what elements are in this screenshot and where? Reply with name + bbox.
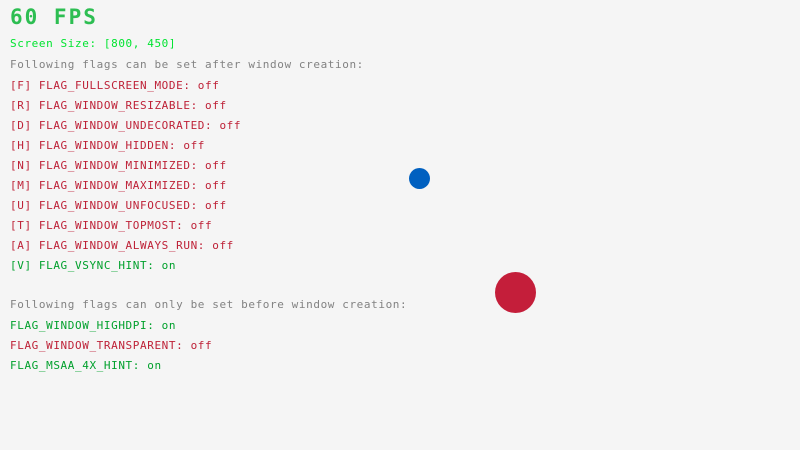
section-header-before-creation: Following flags can only be set before w…	[10, 299, 407, 310]
flag-row[interactable]: [V] FLAG_VSYNC_HINT: on	[10, 260, 176, 271]
raylib-window-canvas[interactable]: 60 FPS Screen Size: [800, 450] Following…	[0, 0, 800, 450]
flag-row[interactable]: [M] FLAG_WINDOW_MAXIMIZED: off	[10, 180, 227, 191]
flag-row[interactable]: [U] FLAG_WINDOW_UNFOCUSED: off	[10, 200, 227, 211]
flag-row[interactable]: FLAG_WINDOW_HIGHDPI: on	[10, 320, 176, 331]
blue-ball-shape	[409, 168, 430, 189]
flag-row[interactable]: [A] FLAG_WINDOW_ALWAYS_RUN: off	[10, 240, 234, 251]
fps-counter: 60 FPS	[10, 7, 98, 28]
flag-row[interactable]: [R] FLAG_WINDOW_RESIZABLE: off	[10, 100, 227, 111]
flag-row[interactable]: FLAG_WINDOW_TRANSPARENT: off	[10, 340, 212, 351]
flag-row[interactable]: [D] FLAG_WINDOW_UNDECORATED: off	[10, 120, 241, 131]
flag-row[interactable]: [F] FLAG_FULLSCREEN_MODE: off	[10, 80, 219, 91]
section-header-after-creation: Following flags can be set after window …	[10, 59, 364, 70]
screen-size-label: Screen Size: [800, 450]	[10, 38, 176, 49]
flag-row[interactable]: [H] FLAG_WINDOW_HIDDEN: off	[10, 140, 205, 151]
red-ball-shape	[495, 272, 536, 313]
flag-row[interactable]: [N] FLAG_WINDOW_MINIMIZED: off	[10, 160, 227, 171]
flag-row[interactable]: [T] FLAG_WINDOW_TOPMOST: off	[10, 220, 212, 231]
flag-row[interactable]: FLAG_MSAA_4X_HINT: on	[10, 360, 162, 371]
